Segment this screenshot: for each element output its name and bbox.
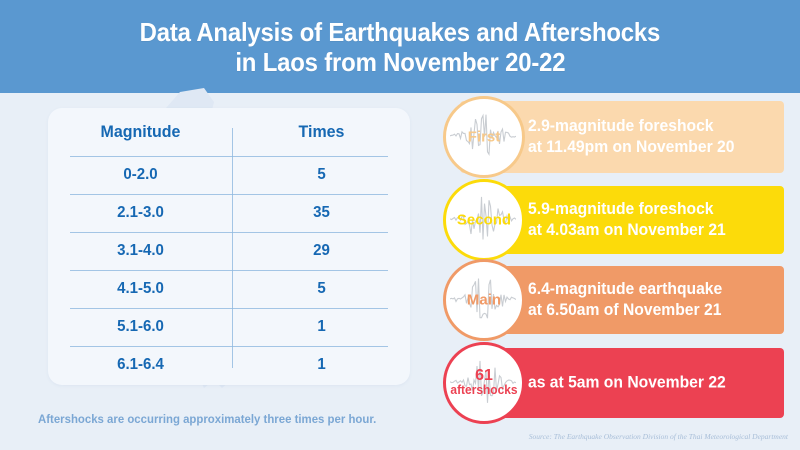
source-attribution: Source: The Earthquake Observation Divis…: [529, 432, 788, 441]
header-banner: Data Analysis of Earthquakes and Aftersh…: [0, 0, 800, 93]
event-card-text: as at 5am on November 22: [528, 373, 736, 394]
event-card[interactable]: as at 5am on November 2261aftershocks: [460, 348, 784, 418]
infographic-root: Data Analysis of Earthquakes and Aftersh…: [0, 0, 800, 450]
event-card-line1: 6.4-magnitude earthquake: [528, 279, 722, 300]
cell-times: 35: [238, 204, 404, 222]
badge-count-label: aftershocks: [449, 383, 519, 397]
column-header-times: Times: [238, 122, 404, 142]
footnote-text: Aftershocks are occurring approximately …: [38, 412, 376, 426]
table-row: 3.1-4.029: [48, 232, 410, 270]
cell-magnitude: 0-2.0: [54, 166, 228, 184]
table-row: 6.1-6.41: [48, 346, 410, 384]
magnitude-table: Magnitude Times 0-2.052.1-3.0353.1-4.029…: [48, 108, 410, 385]
seismograph-badge-icon: Main: [443, 259, 525, 341]
event-card-line2: at 11.49pm on November 20: [528, 137, 734, 158]
seismograph-badge-icon: First: [443, 96, 525, 178]
table-header-row: Magnitude Times: [48, 108, 410, 156]
event-card-line1: as at 5am on November 22: [528, 373, 726, 394]
event-card[interactable]: 6.4-magnitude earthquakeat 6.50am of Nov…: [460, 266, 784, 334]
table-row: 2.1-3.035: [48, 194, 410, 232]
cell-times: 1: [238, 356, 404, 374]
cell-magnitude: 3.1-4.0: [54, 242, 228, 260]
event-card-text: 2.9-magnitude foreshockat 11.49pm on Nov…: [528, 116, 745, 158]
event-card-text: 5.9-magnitude foreshockat 4.03am on Nove…: [528, 199, 736, 241]
cell-magnitude: 6.1-6.4: [54, 356, 228, 374]
event-card[interactable]: 5.9-magnitude foreshockat 4.03am on Nove…: [460, 186, 784, 254]
event-card-line2: at 6.50am of November 21: [528, 300, 722, 321]
magnitude-table-panel: Magnitude Times 0-2.052.1-3.0353.1-4.029…: [48, 108, 410, 385]
badge-label: Main: [446, 293, 522, 308]
page-title-line1: Data Analysis of Earthquakes and Aftersh…: [140, 17, 661, 47]
table-row: 0-2.05: [48, 156, 410, 194]
seismograph-badge-icon: 61aftershocks: [443, 342, 525, 424]
cell-times: 5: [238, 280, 404, 298]
column-header-magnitude: Magnitude: [54, 122, 228, 142]
badge-count: 61: [446, 369, 522, 383]
event-card-text: 6.4-magnitude earthquakeat 6.50am of Nov…: [528, 279, 732, 321]
badge-label: Second: [446, 213, 522, 228]
table-row: 4.1-5.05: [48, 270, 410, 308]
event-card[interactable]: 2.9-magnitude foreshockat 11.49pm on Nov…: [460, 101, 784, 173]
table-row: 5.1-6.01: [48, 308, 410, 346]
cell-times: 29: [238, 242, 404, 260]
page-title-line2: in Laos from November 20-22: [235, 47, 565, 77]
cell-magnitude: 5.1-6.0: [54, 318, 228, 336]
event-card-line2: at 4.03am on November 21: [528, 220, 726, 241]
badge-label: 61aftershocks: [446, 369, 522, 397]
cell-times: 5: [238, 166, 404, 184]
seismograph-badge-icon: Second: [443, 179, 525, 261]
cell-times: 1: [238, 318, 404, 336]
event-card-line1: 2.9-magnitude foreshock: [528, 116, 734, 137]
cell-magnitude: 2.1-3.0: [54, 204, 228, 222]
badge-label: First: [446, 130, 522, 145]
event-card-line1: 5.9-magnitude foreshock: [528, 199, 726, 220]
cell-magnitude: 4.1-5.0: [54, 280, 228, 298]
